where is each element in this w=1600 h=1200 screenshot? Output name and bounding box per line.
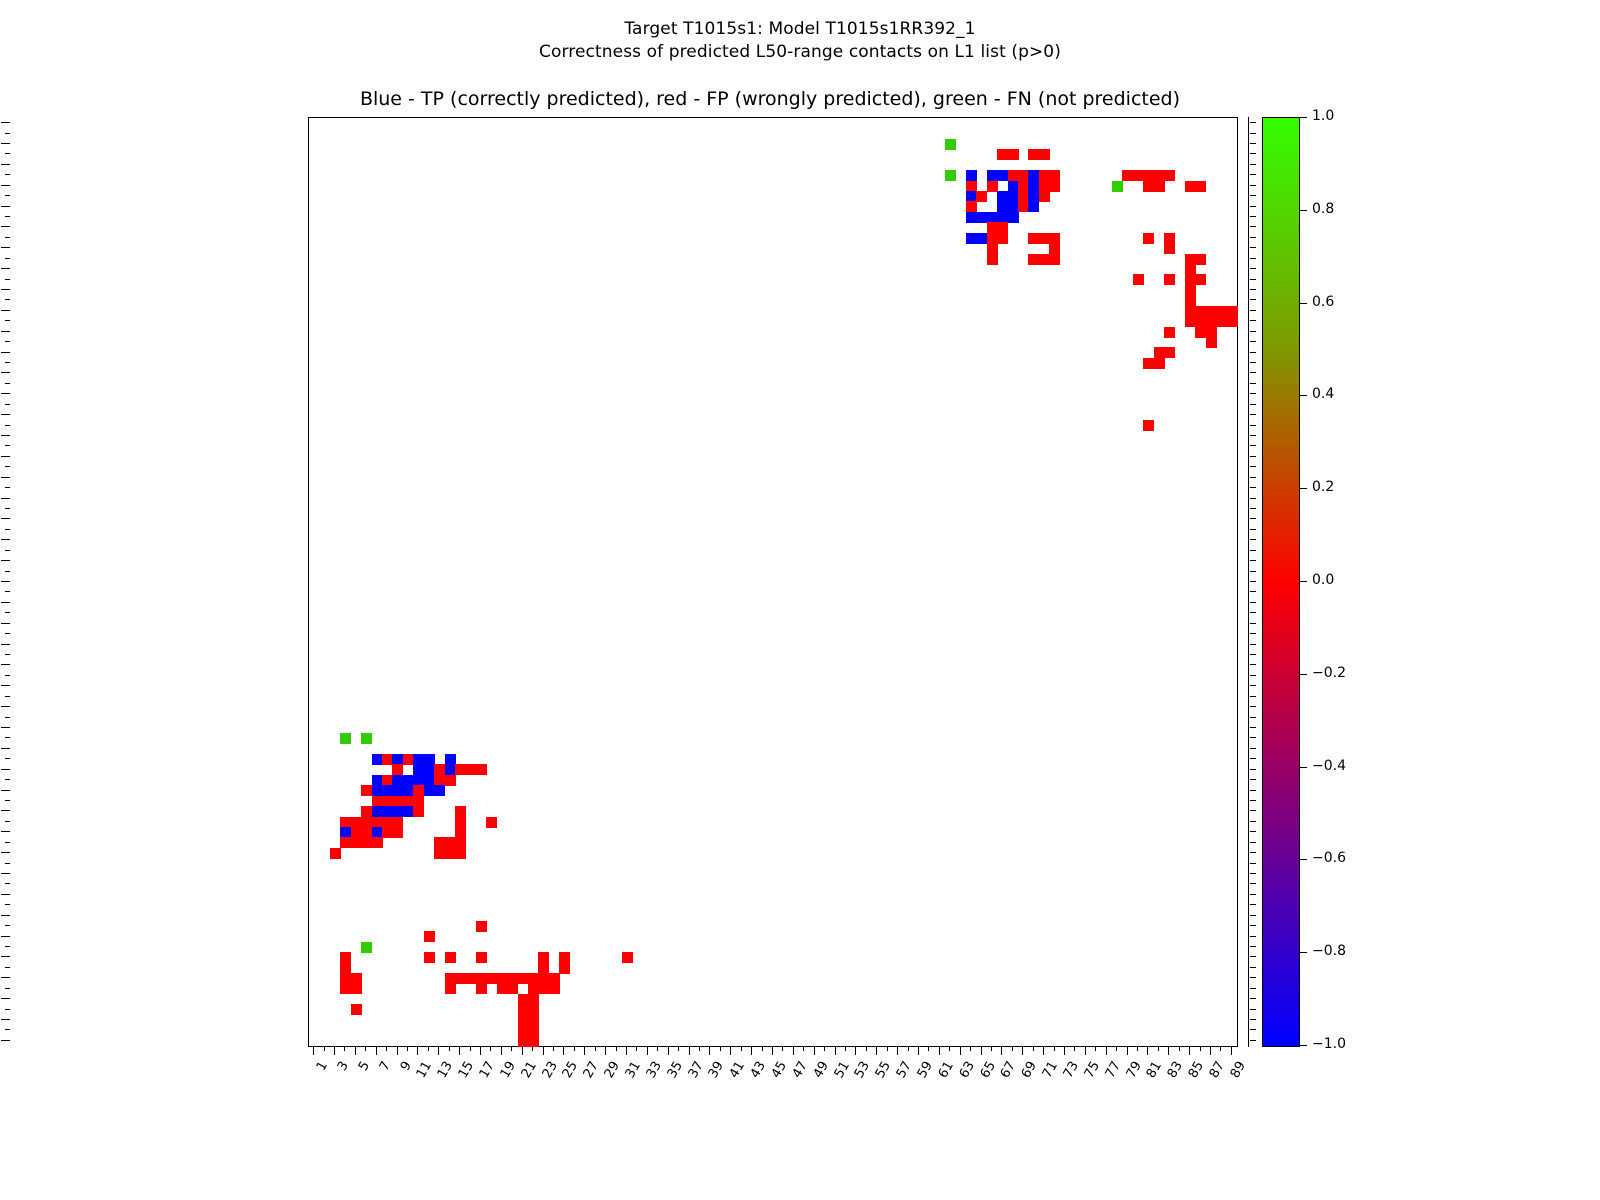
- tp-cell: [1008, 181, 1019, 192]
- fp-cell: [559, 963, 570, 974]
- fp-cell: [1154, 358, 1165, 369]
- y-tick-mark: [1, 1019, 10, 1020]
- y-tick-mark: [1, 998, 10, 999]
- y-tick-mark: [1, 310, 10, 311]
- tp-cell: [966, 191, 977, 202]
- fp-cell: [434, 837, 445, 848]
- colorbar-minor-tick: [1250, 122, 1256, 123]
- x-tick-mark: [511, 1046, 512, 1051]
- colorbar-minor-tick: [1250, 299, 1256, 300]
- x-tick-label: 25: [560, 1059, 581, 1081]
- x-tick-mark: [355, 1046, 356, 1055]
- tp-cell: [424, 785, 435, 796]
- fp-cell: [966, 181, 977, 192]
- colorbar-minor-tick: [1250, 977, 1256, 978]
- fp-cell: [1008, 170, 1019, 181]
- x-tick-label: 81: [1144, 1059, 1165, 1081]
- x-tick-label: 35: [664, 1059, 685, 1081]
- x-tick-mark: [876, 1046, 877, 1055]
- fp-cell: [528, 1015, 539, 1026]
- fn-cell: [340, 733, 351, 744]
- fp-cell: [1164, 347, 1175, 358]
- colorbar-minor-tick: [1250, 654, 1256, 655]
- fp-cell: [1227, 316, 1238, 327]
- y-tick-mark: [5, 675, 10, 676]
- fp-cell: [1216, 316, 1227, 327]
- x-tick-mark: [449, 1046, 450, 1051]
- fp-cell: [361, 817, 372, 828]
- colorbar-minor-tick: [1250, 404, 1256, 405]
- y-tick-mark: [5, 883, 10, 884]
- colorbar-minor-tick: [1250, 279, 1256, 280]
- y-tick-mark: [1, 122, 10, 123]
- fp-cell: [497, 983, 508, 994]
- x-tick-label: 77: [1102, 1059, 1123, 1081]
- x-tick-mark: [730, 1046, 731, 1055]
- fp-cell: [528, 1025, 539, 1036]
- fp-cell: [1143, 181, 1154, 192]
- y-tick-mark: [1, 435, 10, 436]
- fp-cell: [434, 848, 445, 859]
- figure-title-line-2: Correctness of predicted L50-range conta…: [0, 41, 1600, 64]
- y-tick-mark: [1, 769, 10, 770]
- fp-cell: [987, 181, 998, 192]
- y-tick-mark: [1, 685, 10, 686]
- x-tick-label: 75: [1082, 1059, 1103, 1081]
- y-tick-mark: [1, 498, 10, 499]
- fp-cell: [351, 817, 362, 828]
- y-tick-mark: [1, 539, 10, 540]
- fp-cell: [1049, 254, 1060, 265]
- y-tick-mark: [5, 925, 10, 926]
- y-tick-mark: [1, 748, 10, 749]
- fp-cell: [1185, 306, 1196, 317]
- fp-cell: [1216, 306, 1227, 317]
- fp-cell: [1154, 170, 1165, 181]
- x-tick-label: 85: [1186, 1059, 1207, 1081]
- colorbar-minor-tick: [1250, 341, 1256, 342]
- colorbar-tick-label: 0.8: [1312, 201, 1334, 217]
- colorbar-minor-tick: [1250, 414, 1256, 415]
- tp-cell: [434, 785, 445, 796]
- y-tick-mark: [1, 852, 10, 853]
- colorbar-minor-tick: [1250, 237, 1256, 238]
- fp-cell: [987, 254, 998, 265]
- y-tick-mark: [5, 988, 10, 989]
- colorbar-tick-mark: [1300, 117, 1307, 118]
- y-tick-mark: [1, 936, 10, 937]
- tp-cell: [1008, 191, 1019, 202]
- tp-cell: [403, 806, 414, 817]
- fp-cell: [1206, 306, 1217, 317]
- fp-cell: [424, 931, 435, 942]
- fp-cell: [1028, 254, 1039, 265]
- x-tick-mark: [397, 1046, 398, 1055]
- y-tick-mark: [1, 560, 10, 561]
- tp-cell: [424, 775, 435, 786]
- figure-title-block: Target T1015s1: Model T1015s1RR392_1 Cor…: [0, 18, 1600, 64]
- fp-cell: [382, 796, 393, 807]
- fp-cell: [455, 806, 466, 817]
- x-tick-mark: [428, 1046, 429, 1051]
- colorbar-minor-tick: [1250, 706, 1256, 707]
- y-tick-mark: [5, 508, 10, 509]
- tp-cell: [403, 775, 414, 786]
- figure-title-line-1: Target T1015s1: Model T1015s1RR392_1: [0, 18, 1600, 41]
- fp-cell: [1195, 181, 1206, 192]
- colorbar-minor-tick: [1250, 331, 1256, 332]
- x-tick-label: 1: [314, 1059, 331, 1074]
- y-tick-mark: [5, 237, 10, 238]
- x-tick-mark: [313, 1046, 314, 1055]
- x-tick-mark: [782, 1046, 783, 1051]
- fp-cell: [622, 952, 633, 963]
- tp-cell: [372, 827, 383, 838]
- x-tick-mark: [480, 1046, 481, 1055]
- colorbar-minor-tick: [1250, 206, 1256, 207]
- fp-cell: [476, 764, 487, 775]
- colorbar-tick-mark: [1300, 581, 1307, 582]
- x-tick-label: 39: [706, 1059, 727, 1081]
- colorbar-minor-tick: [1250, 810, 1256, 811]
- tp-cell: [392, 754, 403, 765]
- y-tick-mark: [1, 331, 10, 332]
- x-tick-mark: [1001, 1046, 1002, 1055]
- x-tick-label: 31: [623, 1059, 644, 1081]
- fn-cell: [945, 170, 956, 181]
- y-tick-mark: [5, 341, 10, 342]
- x-tick-mark: [689, 1046, 690, 1055]
- x-tick-mark: [417, 1046, 418, 1055]
- y-tick-mark: [5, 425, 10, 426]
- fp-cell: [1154, 181, 1165, 192]
- y-tick-mark: [1, 477, 10, 478]
- fp-cell: [997, 149, 1008, 160]
- tp-cell: [424, 754, 435, 765]
- y-tick-mark: [5, 737, 10, 738]
- y-tick-mark: [1, 226, 10, 227]
- x-tick-mark: [1116, 1046, 1117, 1051]
- x-tick-mark: [522, 1046, 523, 1055]
- fp-cell: [976, 191, 987, 202]
- fp-cell: [392, 796, 403, 807]
- colorbar-minor-tick: [1250, 258, 1256, 259]
- fp-cell: [1143, 170, 1154, 181]
- colorbar-gradient: [1262, 117, 1300, 1047]
- fp-cell: [1143, 420, 1154, 431]
- y-tick-mark: [5, 779, 10, 780]
- contact-map-cells: [309, 118, 1237, 1046]
- y-tick-mark: [1, 352, 10, 353]
- x-tick-mark: [887, 1046, 888, 1051]
- tp-cell: [966, 170, 977, 181]
- x-tick-mark: [376, 1046, 377, 1055]
- tp-cell: [966, 233, 977, 244]
- y-tick-mark: [1, 831, 10, 832]
- y-tick-mark: [5, 362, 10, 363]
- fp-cell: [1164, 233, 1175, 244]
- x-tick-mark: [793, 1046, 794, 1055]
- colorbar-minor-tick: [1250, 675, 1256, 676]
- fp-cell: [382, 775, 393, 786]
- x-tick-mark: [1127, 1046, 1128, 1055]
- fp-cell: [445, 983, 456, 994]
- y-tick-mark: [5, 320, 10, 321]
- fp-cell: [476, 952, 487, 963]
- colorbar-minor-tick: [1250, 383, 1256, 384]
- x-tick-label: 67: [998, 1059, 1019, 1081]
- tp-cell: [445, 764, 456, 775]
- fp-cell: [351, 1004, 362, 1015]
- fp-cell: [1195, 306, 1206, 317]
- tp-cell: [382, 785, 393, 796]
- colorbar-tick-mark: [1300, 767, 1307, 768]
- colorbar-minor-tick: [1250, 571, 1256, 572]
- x-tick-mark: [324, 1046, 325, 1051]
- x-tick-mark: [605, 1046, 606, 1055]
- y-tick-mark: [1, 185, 10, 186]
- x-tick-mark: [407, 1046, 408, 1051]
- contact-map-plot-area[interactable]: [308, 117, 1238, 1047]
- y-tick-mark: [5, 612, 10, 613]
- colorbar-minor-tick: [1250, 1040, 1256, 1041]
- x-tick-mark: [981, 1046, 982, 1055]
- colorbar-minor-tick: [1250, 362, 1256, 363]
- colorbar-minor-tick: [1250, 612, 1256, 613]
- fp-cell: [476, 921, 487, 932]
- fp-cell: [1133, 170, 1144, 181]
- colorbar-tick-mark: [1300, 210, 1307, 211]
- y-tick-mark: [5, 800, 10, 801]
- colorbar-minor-tick: [1250, 602, 1256, 603]
- tp-cell: [976, 233, 987, 244]
- x-tick-mark: [970, 1046, 971, 1051]
- fp-cell: [403, 796, 414, 807]
- x-tick-mark: [1064, 1046, 1065, 1055]
- colorbar-minor-tick: [1250, 498, 1256, 499]
- colorbar-minor-tick: [1250, 883, 1256, 884]
- colorbar-minor-tick: [1250, 216, 1256, 217]
- tp-cell: [340, 827, 351, 838]
- tp-cell: [966, 212, 977, 223]
- fp-cell: [424, 952, 435, 963]
- y-tick-mark: [1, 790, 10, 791]
- x-tick-mark: [459, 1046, 460, 1055]
- fp-cell: [340, 963, 351, 974]
- colorbar-minor-tick: [1250, 310, 1256, 311]
- tp-cell: [413, 775, 424, 786]
- x-tick-mark: [334, 1046, 335, 1055]
- x-tick-label: 11: [414, 1059, 435, 1081]
- x-tick-label: 51: [831, 1059, 852, 1081]
- colorbar-minor-tick: [1250, 998, 1256, 999]
- x-tick-mark: [1054, 1046, 1055, 1051]
- fp-cell: [1185, 181, 1196, 192]
- x-tick-label: 63: [956, 1059, 977, 1081]
- fp-cell: [1039, 191, 1050, 202]
- fp-cell: [1049, 243, 1060, 254]
- fp-cell: [392, 827, 403, 838]
- fp-cell: [403, 754, 414, 765]
- tp-cell: [372, 785, 383, 796]
- colorbar-minor-tick: [1250, 560, 1256, 561]
- fp-cell: [518, 1036, 529, 1047]
- fp-cell: [528, 973, 539, 984]
- x-tick-mark: [563, 1046, 564, 1055]
- fp-cell: [445, 837, 456, 848]
- colorbar-minor-tick: [1250, 539, 1256, 540]
- fp-cell: [549, 983, 560, 994]
- y-tick-mark: [1, 247, 10, 248]
- y-tick-mark: [1, 268, 10, 269]
- x-tick-mark: [772, 1046, 773, 1055]
- y-tick-mark: [1, 956, 10, 957]
- tp-cell: [1008, 212, 1019, 223]
- x-tick-label: 45: [769, 1059, 790, 1081]
- fp-cell: [518, 1015, 529, 1026]
- colorbar-minor-tick: [1250, 320, 1256, 321]
- x-tick-mark: [553, 1046, 554, 1051]
- colorbar-minor-tick: [1250, 1029, 1256, 1030]
- y-tick-mark: [1, 143, 10, 144]
- fp-cell: [997, 233, 1008, 244]
- x-tick-mark: [1147, 1046, 1148, 1055]
- x-tick-mark: [532, 1046, 533, 1051]
- fp-cell: [549, 973, 560, 984]
- y-tick-mark: [1, 206, 10, 207]
- x-tick-mark: [1137, 1046, 1138, 1051]
- fp-cell: [1133, 274, 1144, 285]
- y-tick-mark: [1, 1040, 10, 1041]
- fp-cell: [1154, 347, 1165, 358]
- fp-cell: [559, 952, 570, 963]
- x-tick-mark: [928, 1046, 929, 1051]
- colorbar-minor-tick: [1250, 185, 1256, 186]
- fp-cell: [1039, 181, 1050, 192]
- x-tick-label: 9: [397, 1059, 414, 1074]
- tp-cell: [1028, 181, 1039, 192]
- colorbar-minor-tick: [1250, 268, 1256, 269]
- y-tick-mark: [1, 727, 10, 728]
- x-tick-label: 79: [1123, 1059, 1144, 1081]
- fp-cell: [1185, 295, 1196, 306]
- x-tick-label: 29: [602, 1059, 623, 1081]
- fp-cell: [392, 817, 403, 828]
- fp-cell: [1185, 274, 1196, 285]
- fp-cell: [455, 827, 466, 838]
- x-tick-mark: [835, 1046, 836, 1055]
- colorbar-minor-tick: [1250, 696, 1256, 697]
- fp-cell: [1143, 233, 1154, 244]
- fp-cell: [1206, 337, 1217, 348]
- y-tick-mark: [5, 133, 10, 134]
- y-tick-mark: [5, 1009, 10, 1010]
- tp-cell: [997, 170, 1008, 181]
- fp-cell: [361, 806, 372, 817]
- fp-cell: [1185, 254, 1196, 265]
- fp-cell: [445, 952, 456, 963]
- x-tick-mark: [1074, 1046, 1075, 1051]
- x-tick-mark: [1095, 1046, 1096, 1051]
- fp-cell: [1164, 274, 1175, 285]
- x-tick-label: 49: [810, 1059, 831, 1081]
- x-tick-mark: [1189, 1046, 1190, 1055]
- fn-cell: [945, 139, 956, 150]
- x-tick-mark: [908, 1046, 909, 1051]
- fp-cell: [413, 806, 424, 817]
- tp-cell: [445, 754, 456, 765]
- x-tick-label: 43: [748, 1059, 769, 1081]
- y-tick-mark: [5, 174, 10, 175]
- y-tick-mark: [1, 289, 10, 290]
- x-tick-mark: [845, 1046, 846, 1051]
- x-tick-mark: [855, 1046, 856, 1055]
- fp-cell: [372, 817, 383, 828]
- fp-cell: [518, 994, 529, 1005]
- y-tick-mark: [5, 821, 10, 822]
- colorbar-tick-label: −1.0: [1312, 1036, 1346, 1052]
- y-tick-mark: [1, 873, 10, 874]
- fp-cell: [518, 1004, 529, 1015]
- x-tick-label: 3: [335, 1059, 352, 1074]
- x-tick-mark: [1043, 1046, 1044, 1055]
- colorbar-minor-tick: [1250, 581, 1256, 582]
- colorbar-minor-tick: [1250, 133, 1256, 134]
- fp-cell: [1195, 316, 1206, 327]
- x-tick-label: 15: [456, 1059, 477, 1081]
- fp-cell: [1185, 316, 1196, 327]
- x-tick-mark: [866, 1046, 867, 1051]
- colorbar-minor-tick: [1250, 591, 1256, 592]
- tp-cell: [372, 775, 383, 786]
- fp-cell: [372, 796, 383, 807]
- x-tick-label: 47: [790, 1059, 811, 1081]
- x-tick-label: 27: [581, 1059, 602, 1081]
- tp-cell: [1028, 201, 1039, 212]
- colorbar-minor-tick: [1250, 800, 1256, 801]
- x-tick-label: 7: [377, 1059, 394, 1074]
- colorbar-minor-tick: [1250, 831, 1256, 832]
- fp-cell: [382, 754, 393, 765]
- fp-cell: [1206, 327, 1217, 338]
- fp-cell: [1143, 358, 1154, 369]
- x-tick-mark: [678, 1046, 679, 1051]
- colorbar-minor-tick: [1250, 174, 1256, 175]
- colorbar-minor-tick: [1250, 164, 1256, 165]
- y-tick-mark: [5, 571, 10, 572]
- x-tick-label: 33: [644, 1059, 665, 1081]
- x-tick-mark: [543, 1046, 544, 1055]
- x-tick-label: 89: [1228, 1059, 1249, 1081]
- colorbar-minor-tick: [1250, 664, 1256, 665]
- fp-cell: [361, 785, 372, 796]
- y-tick-mark: [5, 842, 10, 843]
- colorbar-minor-tick: [1250, 936, 1256, 937]
- colorbar-minor-tick: [1250, 758, 1256, 759]
- x-tick-mark: [438, 1046, 439, 1055]
- colorbar-minor-tick: [1250, 821, 1256, 822]
- fp-cell: [518, 973, 529, 984]
- x-tick-label: 37: [685, 1059, 706, 1081]
- colorbar: 1.00.80.60.40.20.0−0.2−0.4−0.6−0.8−1.0: [1262, 117, 1300, 1047]
- colorbar-minor-tick: [1250, 445, 1256, 446]
- colorbar-minor-tick: [1250, 456, 1256, 457]
- y-tick-mark: [1, 664, 10, 665]
- y-tick-mark: [5, 904, 10, 905]
- x-tick-mark: [1106, 1046, 1107, 1055]
- colorbar-minor-tick: [1250, 727, 1256, 728]
- y-tick-mark: [5, 299, 10, 300]
